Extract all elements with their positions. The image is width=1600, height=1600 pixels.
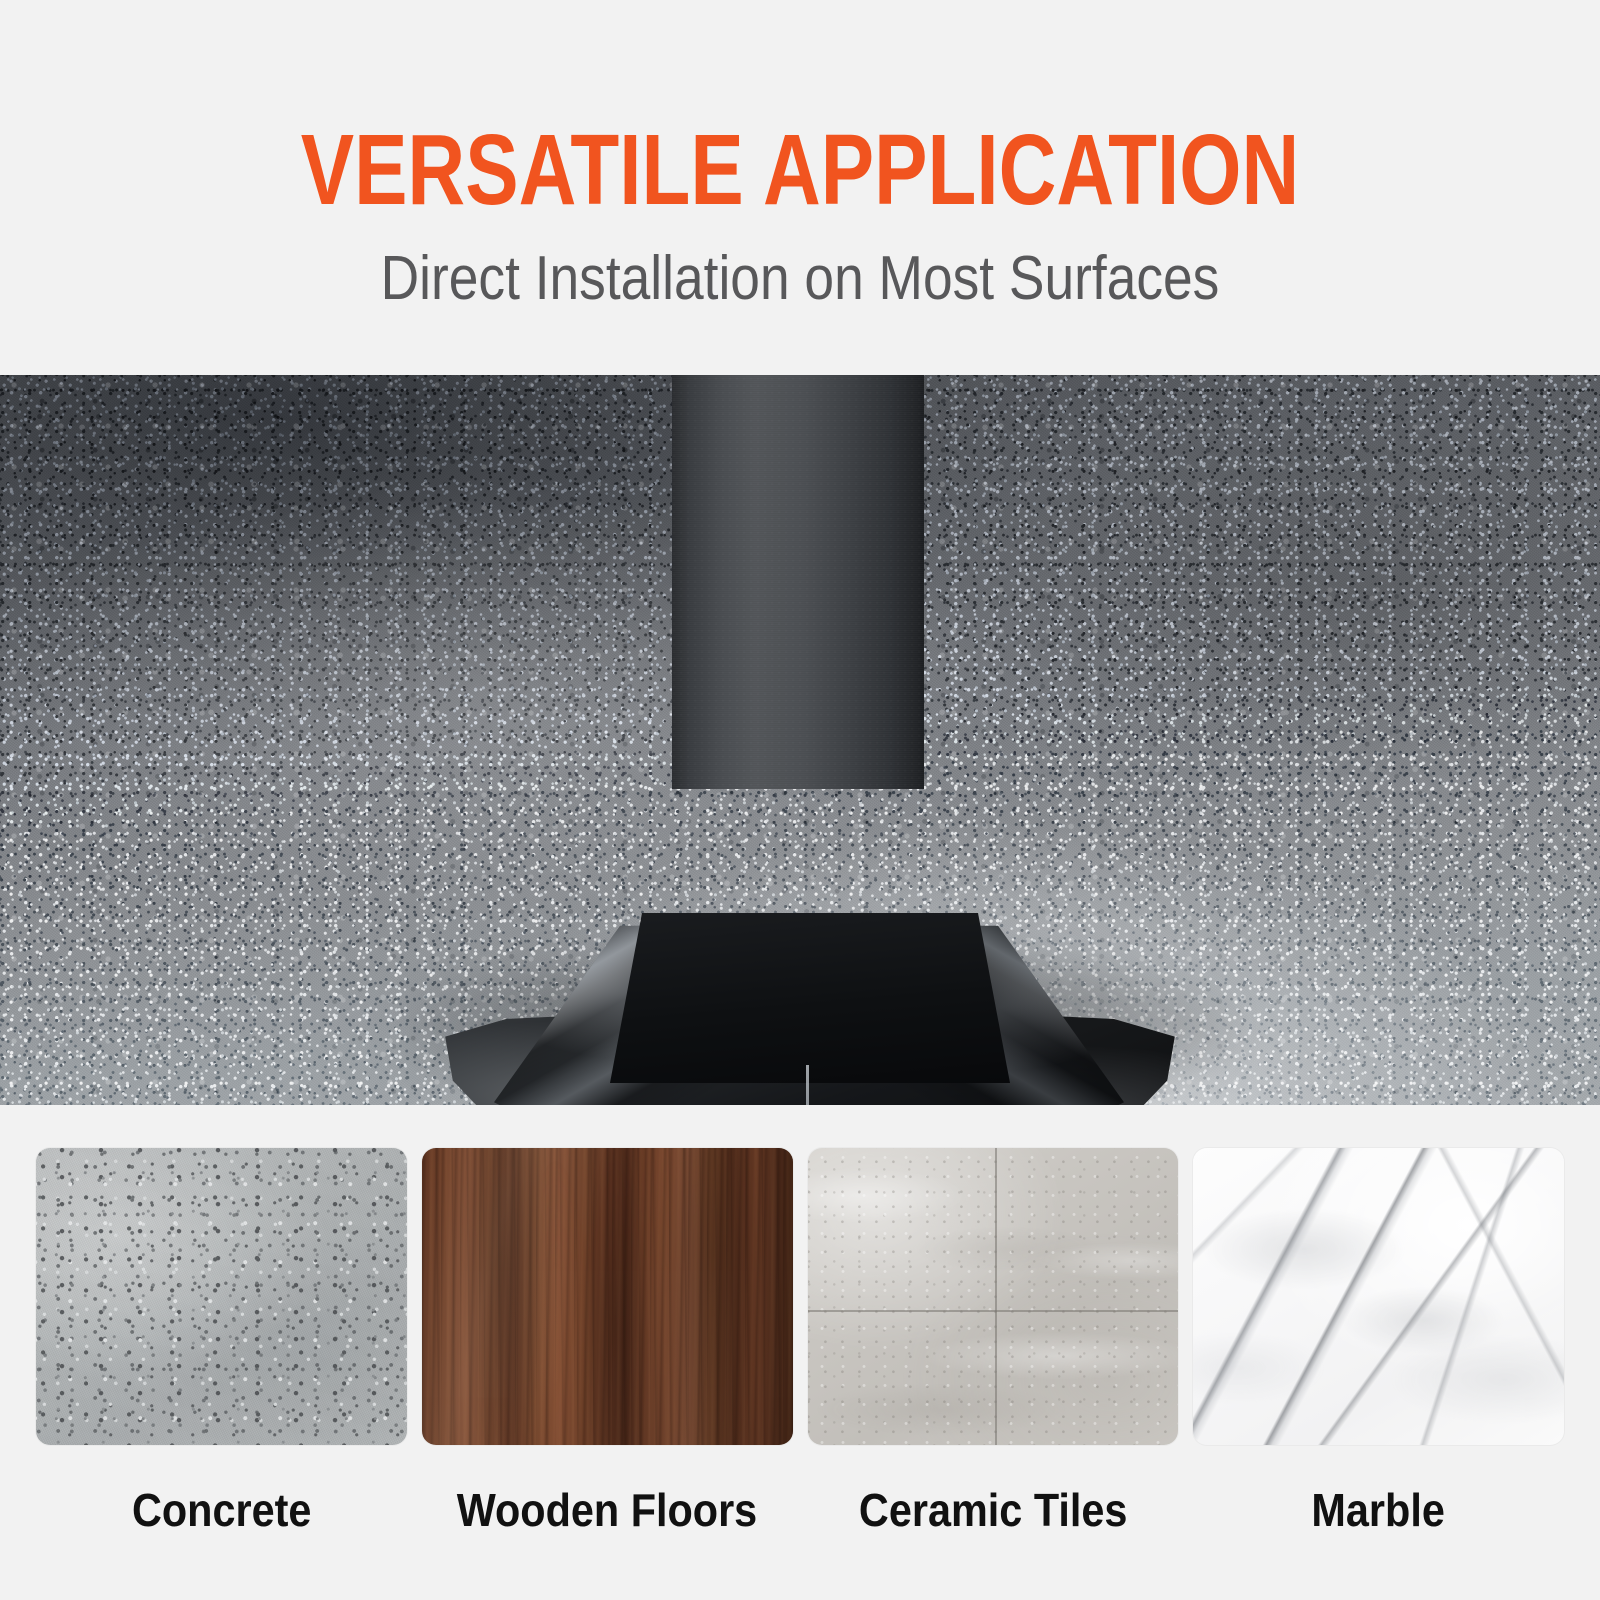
hero-photo: [0, 375, 1600, 1105]
surface-item-concrete: Concrete: [36, 1148, 407, 1600]
ceramic-tiles-swatch: [808, 1148, 1179, 1445]
page-subtitle: Direct Installation on Most Surfaces: [112, 243, 1488, 314]
bollard-post: [672, 375, 924, 789]
base-corner-seam: [806, 1065, 809, 1105]
tile-speckles: [808, 1148, 1179, 1445]
surface-item-wooden-floors: Wooden Floors: [422, 1148, 793, 1600]
marble-swatch: [1193, 1148, 1564, 1445]
header-band: VERSATILE APPLICATION Direct Installatio…: [0, 0, 1600, 375]
surface-label-ceramic-tiles: Ceramic Tiles: [859, 1487, 1127, 1533]
base-cover: [430, 915, 1190, 1105]
wood-sheen: [422, 1148, 793, 1445]
product-feature-card: VERSATILE APPLICATION Direct Installatio…: [0, 0, 1600, 1600]
wooden-floors-swatch: [422, 1148, 793, 1445]
base-top-plateau: [610, 913, 1010, 1083]
bollard-assembly: [0, 375, 1600, 1105]
surface-label-concrete: Concrete: [132, 1487, 311, 1533]
page-title: VERSATILE APPLICATION: [160, 120, 1440, 220]
concrete-swatch: [36, 1148, 407, 1445]
tile-grout-vertical: [995, 1148, 997, 1445]
surface-item-marble: Marble: [1193, 1148, 1564, 1600]
marble-veining: [1193, 1148, 1564, 1445]
surface-label-marble: Marble: [1312, 1487, 1445, 1533]
surface-label-wooden-floors: Wooden Floors: [457, 1487, 758, 1533]
surface-swatch-row: Concrete Wooden Floors Ceramic Tiles: [0, 1105, 1600, 1600]
post-texture: [672, 375, 924, 789]
concrete-grain: [36, 1148, 407, 1445]
tile-grout-horizontal: [808, 1310, 1179, 1312]
surface-item-ceramic-tiles: Ceramic Tiles: [808, 1148, 1179, 1600]
